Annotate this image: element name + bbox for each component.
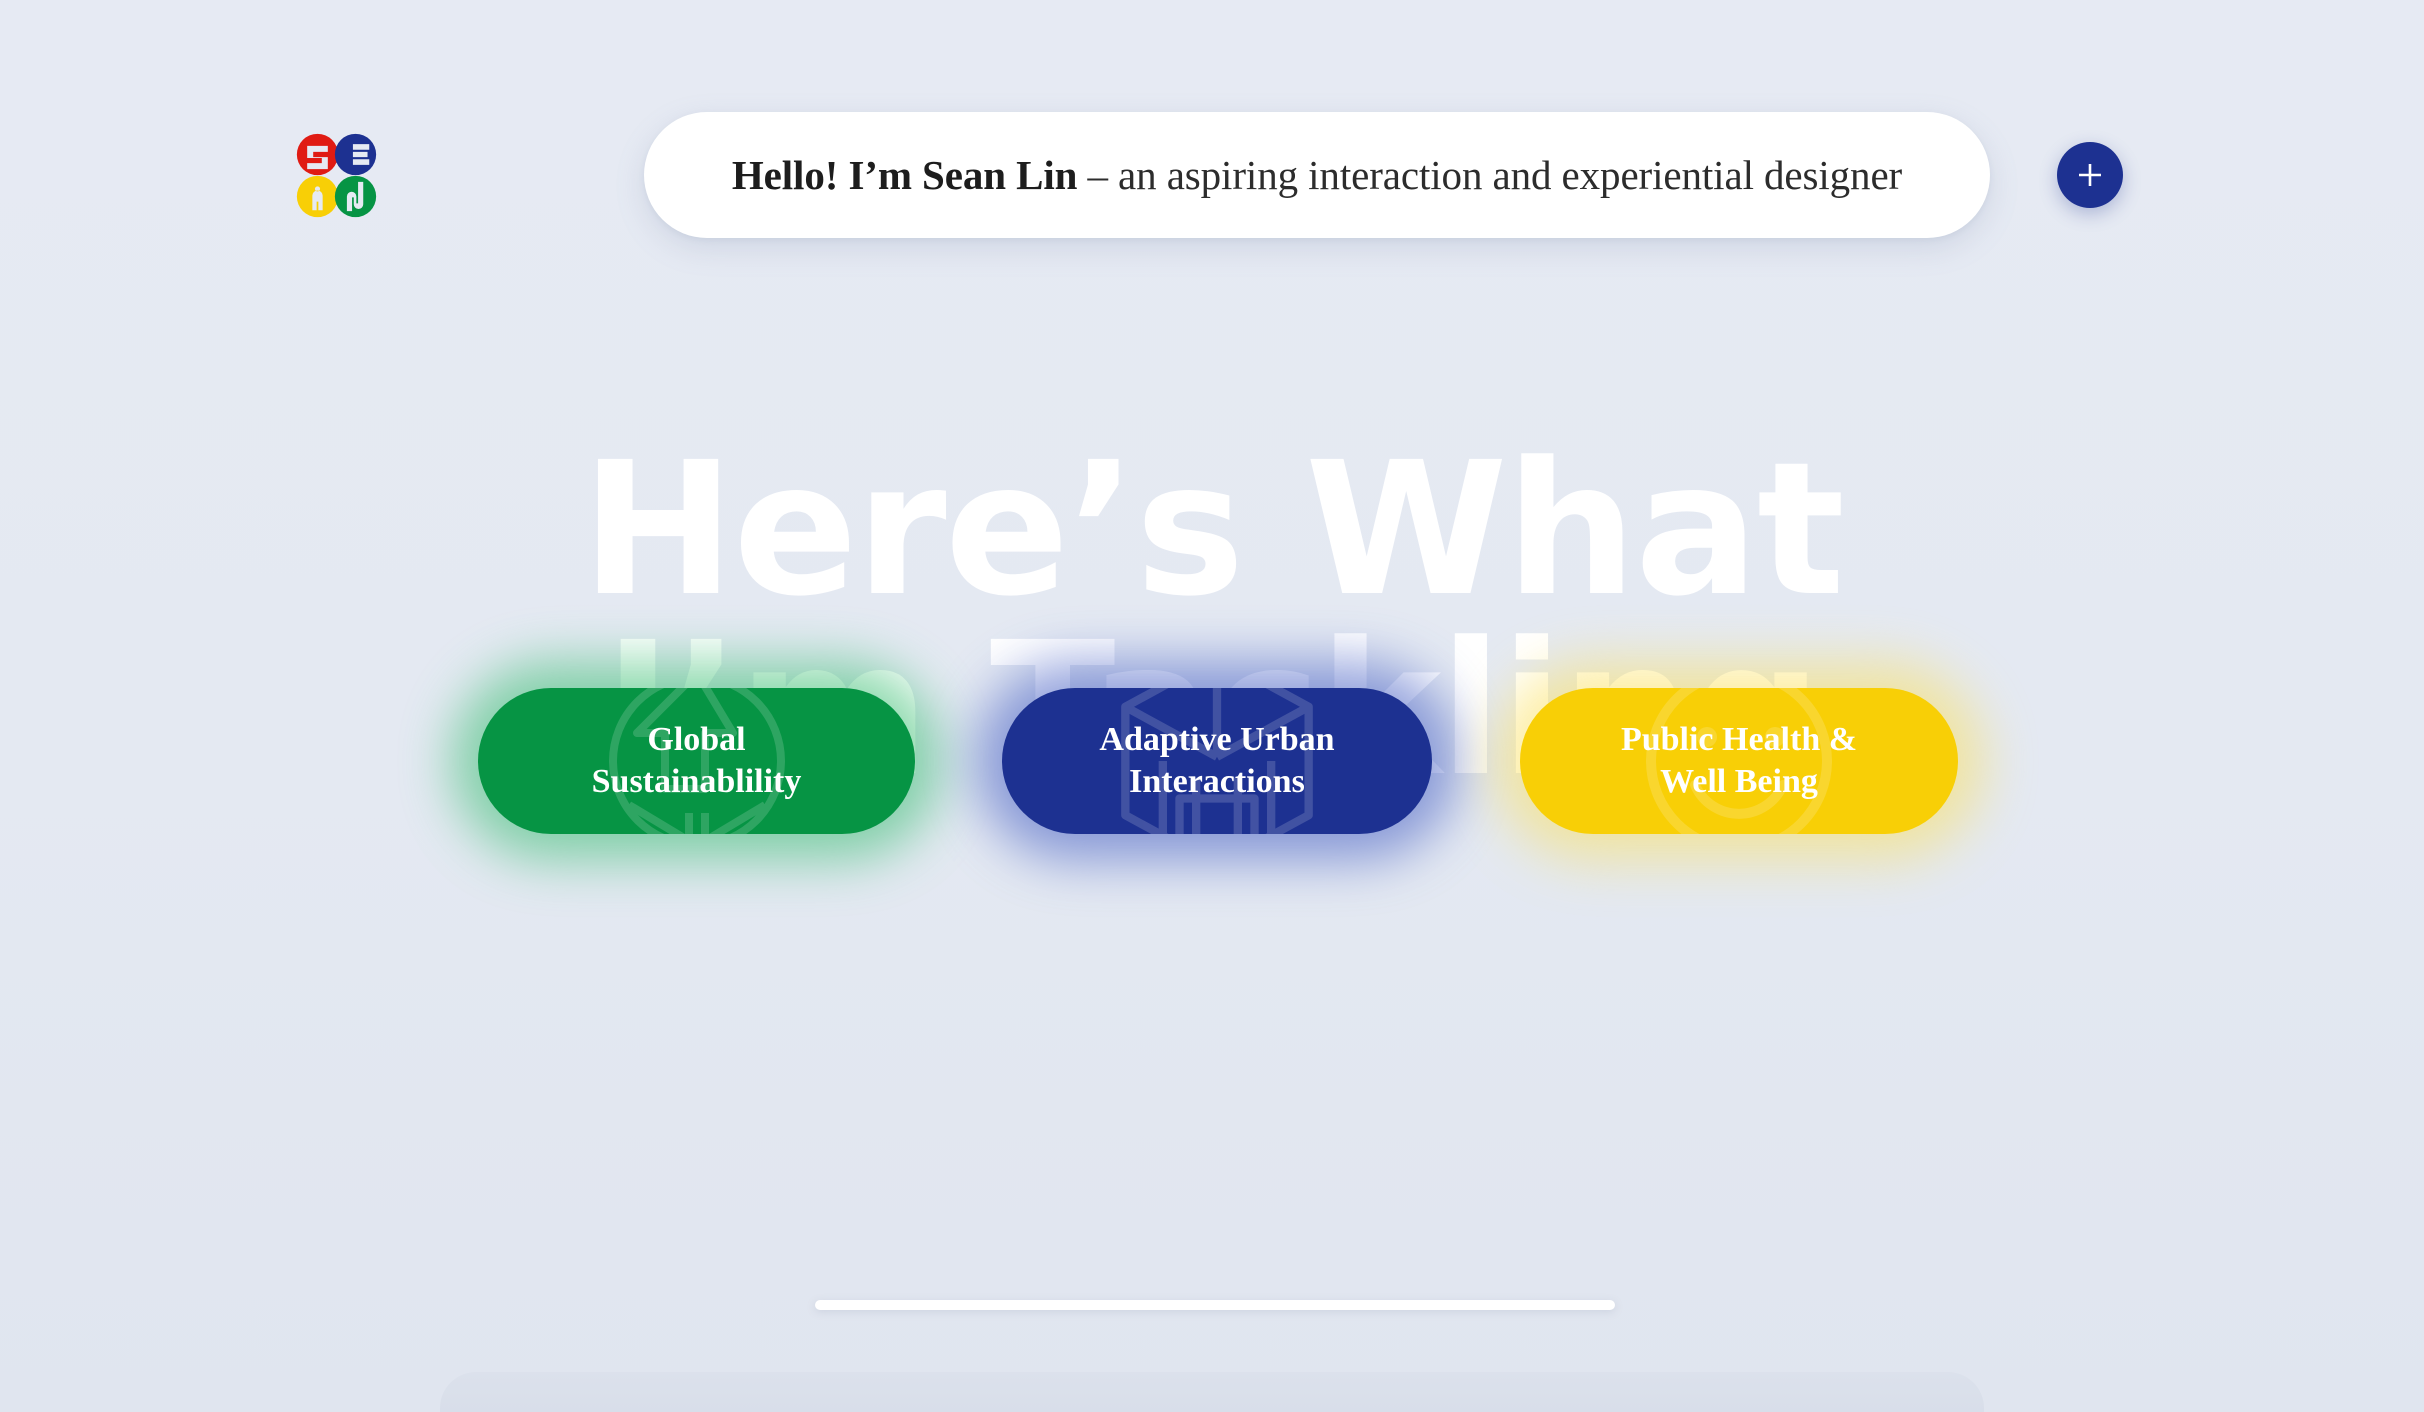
topic-pill-row: Global Sustainablility Adapti (0, 688, 2424, 834)
intro-title-pill: Hello! I’m Sean Lin – an aspiring intera… (644, 112, 1990, 238)
add-button[interactable] (2057, 142, 2123, 208)
intro-tagline: – an aspiring interaction and experienti… (1077, 152, 1902, 198)
logo-letter-a-icon (296, 174, 339, 219)
logo-letter-s-icon (296, 132, 339, 177)
headline-line-1: Here’s What (0, 440, 2424, 620)
logo-letter-e-icon (334, 132, 377, 177)
topic-pill-public-health-wellbeing[interactable]: Public Health & Well Being (1520, 688, 1958, 834)
topic-pill-label: Adaptive Urban Interactions (1073, 719, 1360, 804)
topic-pill-label: Public Health & Well Being (1595, 719, 1883, 804)
topic-pill-wrap-sustainability: Global Sustainablility (478, 688, 915, 834)
hero-stage: Here’s What I’m Tackling (0, 0, 2424, 1412)
next-section-panel (440, 1372, 1984, 1412)
plus-icon (2075, 160, 2105, 190)
topic-pill-global-sustainability[interactable]: Global Sustainablility (478, 688, 915, 834)
topic-pill-wrap-health: Public Health & Well Being (1520, 688, 1958, 834)
topic-pill-label: Global Sustainablility (566, 719, 828, 804)
sean-logo[interactable] (296, 132, 378, 220)
logo-letter-n-icon (334, 174, 377, 219)
scroll-progress-bar[interactable] (815, 1300, 1615, 1310)
site-header: Hello! I’m Sean Lin – an aspiring intera… (0, 112, 2424, 242)
topic-pill-adaptive-urban-interactions[interactable]: Adaptive Urban Interactions (1002, 688, 1432, 834)
intro-name: Hello! I’m Sean Lin (732, 152, 1077, 198)
intro-title-text: Hello! I’m Sean Lin – an aspiring intera… (732, 151, 1902, 199)
topic-pill-wrap-urban: Adaptive Urban Interactions (1002, 688, 1432, 834)
